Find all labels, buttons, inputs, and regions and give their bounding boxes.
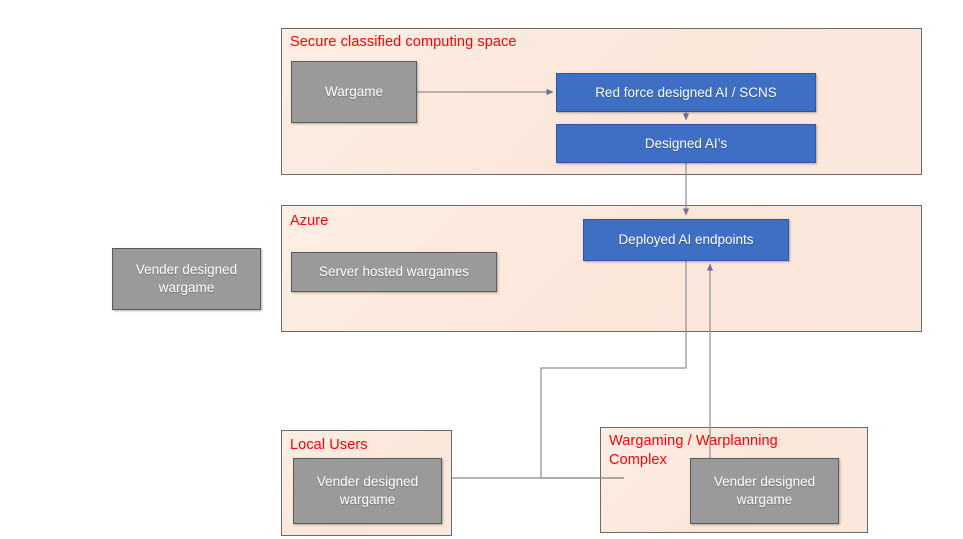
node-red-force-designed-ai-scns[interactable]: Red force designed AI / SCNS (556, 73, 816, 112)
node-wargame[interactable]: Wargame (291, 61, 417, 123)
node-vender-designed-wargame-complex[interactable]: Vender designed wargame (690, 458, 839, 524)
node-server-hosted-wargames-label: Server hosted wargames (319, 263, 469, 281)
node-vender-designed-wargame-local[interactable]: Vender designed wargame (293, 458, 442, 524)
node-server-hosted-wargames[interactable]: Server hosted wargames (291, 252, 497, 292)
node-vender-designed-wargame-complex-label: Vender designed wargame (714, 473, 815, 509)
node-vender-designed-wargame-local-label: Vender designed wargame (317, 473, 418, 509)
zone-title-secure-classified-computing-space: Secure classified computing space (290, 33, 810, 52)
node-vender-designed-wargame-external[interactable]: Vender designed wargame (112, 248, 261, 310)
node-designed-ais[interactable]: Designed AI’s (556, 124, 816, 163)
diagram-canvas: Secure classified computing space Azure … (0, 0, 963, 539)
node-vender-designed-wargame-external-label: Vender designed wargame (136, 261, 237, 297)
node-wargame-label: Wargame (325, 83, 383, 101)
node-deployed-ai-endpoints-label: Deployed AI endpoints (618, 231, 753, 249)
zone-title-azure: Azure (290, 212, 490, 231)
node-red-force-designed-ai-scns-label: Red force designed AI / SCNS (595, 84, 777, 102)
zone-title-local-users: Local Users (290, 436, 450, 455)
node-designed-ais-label: Designed AI’s (645, 135, 727, 153)
node-deployed-ai-endpoints[interactable]: Deployed AI endpoints (583, 219, 789, 261)
